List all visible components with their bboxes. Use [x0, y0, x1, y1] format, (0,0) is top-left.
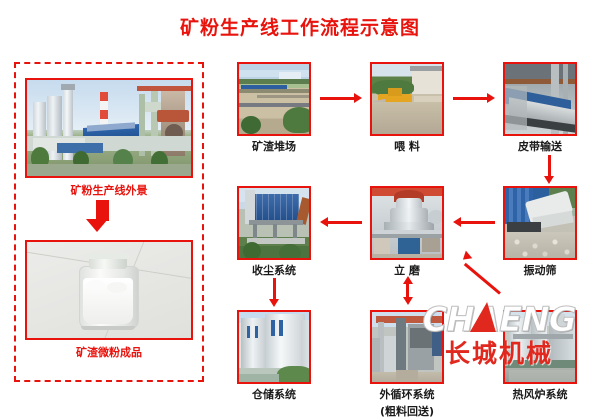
storage-silo-system-photo — [239, 312, 309, 382]
flow-node-label: 收尘系统 — [237, 264, 311, 277]
flow-node-dust-collection: 收尘系统 — [237, 186, 311, 277]
flow-node-slag-stockyard: 矿渣堆场 — [237, 62, 311, 153]
flow-node-label: 矿渣堆场 — [237, 140, 311, 153]
flow-node-label: 皮带输送 — [503, 140, 577, 153]
vertical-roller-mill-photo — [372, 188, 442, 258]
arrow-screen-to-mill — [461, 221, 495, 224]
flow-node-image-storage-system — [237, 310, 311, 384]
flow-node-label: 振动筛 — [503, 264, 577, 277]
flow-node-label: 仓储系统 — [237, 388, 311, 401]
flow-node-feeding: 喂 料 — [370, 62, 444, 153]
flow-node-image-dust-collection — [237, 186, 311, 260]
flow-node-belt-conveyor: 皮带输送 — [503, 62, 577, 153]
overview-image-plant-exterior — [25, 78, 193, 178]
arrow-belt-to-screen — [548, 155, 551, 177]
flow-node-label: 喂 料 — [370, 140, 444, 153]
flow-node-label-secondary: (粗料回送) — [370, 405, 444, 418]
vibrating-screen-photo — [505, 188, 575, 258]
arrow-furnace-to-mill — [464, 263, 501, 295]
flow-node-storage-system: 仓储系统 — [237, 310, 311, 401]
arrow-mill-to-dust — [328, 221, 362, 224]
flow-node-image-vertical-mill — [370, 186, 444, 260]
flow-node-image-vibrating-screen — [503, 186, 577, 260]
flow-node-label: 外循环系统 — [370, 388, 444, 401]
flow-node-vibrating-screen: 振动筛 — [503, 186, 577, 277]
flow-node-image-feeding — [370, 62, 444, 136]
overview-image-product-jar — [25, 240, 193, 340]
brand-watermark-accent-icon — [470, 302, 500, 332]
arrow-head-down-icon — [403, 297, 413, 305]
arrow-mill-external-circulation — [406, 282, 409, 298]
arrow-head-right-icon — [487, 93, 495, 103]
arrow-dust-to-storage — [273, 278, 276, 300]
external-circulation-system-photo — [372, 312, 442, 382]
flow-node-hot-air-furnace: 热风炉系统 — [503, 310, 577, 401]
arrow-head-left-icon — [460, 251, 473, 264]
wheel-loader-feeding-photo — [372, 64, 442, 134]
flow-node-image-external-circulation — [370, 310, 444, 384]
arrow-head-down-icon — [544, 176, 554, 184]
flow-node-label: 热风炉系统 — [503, 388, 577, 401]
slag-stockyard-photo — [239, 64, 309, 134]
belt-conveyor-photo — [505, 64, 575, 134]
flow-node-external-circulation: 外循环系统 (粗料回送) — [370, 310, 444, 418]
slag-powder-plant-exterior-photo — [27, 80, 191, 176]
flow-node-vertical-mill: 立 磨 — [370, 186, 444, 277]
flow-node-image-slag-stockyard — [237, 62, 311, 136]
slag-micro-powder-product-jar-photo — [27, 242, 191, 338]
flow-node-image-belt-conveyor — [503, 62, 577, 136]
overview-caption-product: 矿渣微粉成品 — [14, 344, 204, 360]
arrow-head-down-icon — [269, 299, 279, 307]
arrow-head-left-icon — [453, 217, 461, 227]
arrow-head-right-icon — [354, 93, 362, 103]
dust-collection-system-photo — [239, 188, 309, 258]
page-title: 矿粉生产线工作流程示意图 — [0, 13, 600, 40]
overview-down-arrow-icon — [90, 200, 116, 233]
flow-node-image-hot-air-furnace — [503, 310, 577, 384]
hot-air-furnace-system-photo — [505, 312, 575, 382]
arrow-head-left-icon — [320, 217, 328, 227]
arrow-stockyard-to-feeding — [320, 97, 354, 100]
overview-caption-plant-exterior: 矿粉生产线外景 — [14, 182, 204, 198]
arrow-feeding-to-belt — [453, 97, 487, 100]
